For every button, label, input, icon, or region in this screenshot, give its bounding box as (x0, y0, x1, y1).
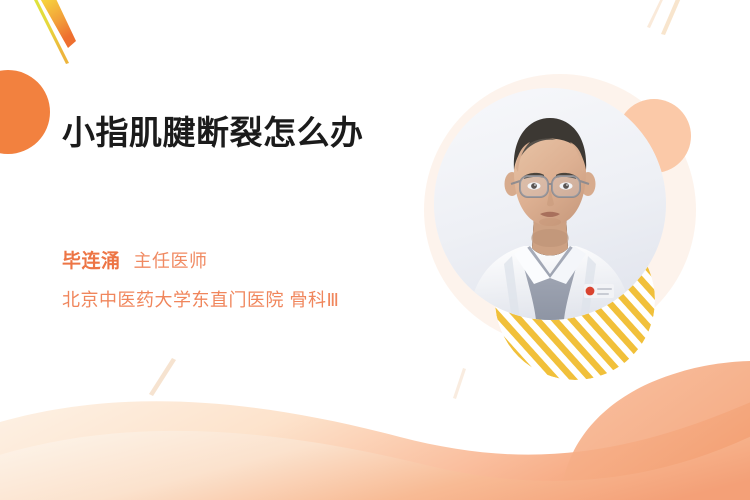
thin-yellow-stroke-decoration (29, 0, 69, 64)
thick-gradient-stroke-decoration (33, 0, 76, 48)
orange-circle-decoration (0, 70, 50, 154)
pale-stroke-bottom-center-decoration (453, 368, 466, 399)
doctor-avatar (434, 88, 666, 320)
wave-right-blob-decoration (560, 361, 750, 500)
doctor-info-block: 毕连涌 主任医师 北京中医药大学东直门医院 骨科Ⅲ (62, 246, 462, 312)
doctor-name: 毕连涌 (62, 246, 121, 273)
doctor-professional-title: 主任医师 (134, 247, 208, 273)
pale-stroke-bottom-left-decoration (149, 358, 176, 396)
cream-stroke-right-b-decoration (647, 0, 667, 28)
cream-stroke-right-a-decoration (661, 0, 684, 35)
doctor-portrait-illustration (434, 88, 666, 320)
doctor-name-row: 毕连涌 主任医师 (62, 246, 462, 273)
page-title: 小指肌腱断裂怎么办 (62, 112, 422, 154)
doctor-hospital-department: 北京中医药大学东直门医院 骨科Ⅲ (62, 286, 462, 312)
wave-front-decoration (0, 431, 750, 500)
title-block: 小指肌腱断裂怎么办 (62, 112, 422, 154)
video-cover-card: 小指肌腱断裂怎么办 毕连涌 主任医师 北京中医药大学东直门医院 骨科Ⅲ (0, 0, 750, 500)
avatar-circle-mask (434, 88, 666, 320)
wave-back-decoration (0, 398, 750, 500)
